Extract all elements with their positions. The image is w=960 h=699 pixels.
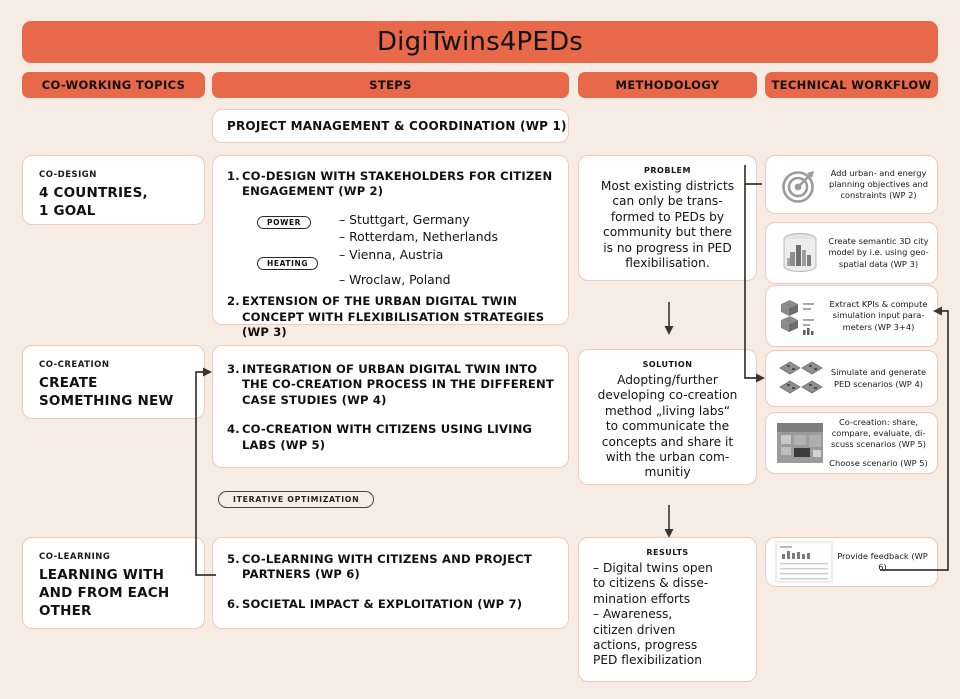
methodology-body-solution: Adopting/further developing co-creation … (589, 373, 746, 481)
workflow-text-5-main: Co-creation: share, compare, evaluate, d… (831, 417, 926, 449)
column-header-steps: STEPS (212, 72, 569, 98)
report-chart-icon (773, 541, 835, 583)
city-item: – Vienna, Austria (339, 246, 498, 264)
topic-headline-co-creation: CREATE SOMETHING NEW (39, 375, 188, 411)
methodology-card-problem: PROBLEM Most existing districts can only… (578, 155, 757, 281)
workflow-card-4: Simulate and generate PED scenarios (WP … (765, 350, 938, 407)
step-text-6: SOCIETAL IMPACT & EXPLOITATION (WP 7) (242, 597, 554, 612)
methodology-label-results: RESULTS (589, 548, 746, 557)
step-item-3: 3. INTEGRATION OF URBAN DIGITAL TWIN INT… (227, 362, 554, 408)
workflow-text-1: Add urban- and energy planning objective… (827, 168, 930, 202)
methodology-body-results: – Digital twins open to citizens & disse… (589, 561, 746, 669)
case-study-cities: POWER HEATING – Stuttgart, Germany – Rot… (227, 209, 554, 294)
kpi-blocks-icon (773, 292, 827, 340)
topic-card-co-creation: CO-CREATION CREATE SOMETHING NEW (22, 345, 205, 419)
pill-power: POWER (257, 216, 311, 229)
topic-headline-co-design: 4 COUNTRIES, 1 GOAL (39, 185, 188, 221)
workflow-text-6: Provide feedback (WP 6) (835, 551, 930, 573)
workflow-card-1: Add urban- and energy planning objective… (765, 155, 938, 214)
city-item: – Wroclaw, Poland (339, 271, 498, 289)
step-item-4: 4. CO-CREATION WITH CITIZENS USING LIVIN… (227, 422, 554, 453)
methodology-label-problem: PROBLEM (589, 166, 746, 175)
workflow-text-5-sub: Choose scenario (WP 5) (827, 458, 930, 469)
column-header-technical-workflow: TECHNICAL WORKFLOW (765, 72, 938, 98)
step-label-wp1: PROJECT MANAGEMENT & COORDINATION (WP 1) (213, 110, 568, 133)
column-header-co-working-topics: CO-WORKING TOPICS (22, 72, 205, 98)
workflow-card-6: Provide feedback (WP 6) (765, 537, 938, 587)
column-header-methodology: METHODOLOGY (578, 72, 757, 98)
target-icon (773, 165, 827, 205)
step-item-1: 1. CO-DESIGN WITH STAKEHOLDERS FOR CITIZ… (227, 169, 554, 200)
city-item: – Stuttgart, Germany (339, 211, 498, 229)
topic-eyebrow-co-learning: CO-LEARNING (39, 552, 188, 562)
city-item: – Rotterdam, Netherlands (339, 228, 498, 246)
step-number-2: 2. (227, 294, 242, 340)
methodology-card-results: RESULTS – Digital twins open to citizens… (578, 537, 757, 682)
workflow-text-2: Create semantic 3D city model by i.e. us… (827, 236, 930, 270)
topic-card-co-design: CO-DESIGN 4 COUNTRIES, 1 GOAL (22, 155, 205, 225)
step-card-group-c: 5. CO-LEARNING WITH CITIZENS AND PROJECT… (212, 537, 569, 629)
poster-canvas: DigiTwins4PEDs CO-WORKING TOPICS STEPS M… (0, 0, 960, 699)
step-number-6: 6. (227, 597, 242, 612)
step-number-5: 5. (227, 552, 242, 583)
step-item-5: 5. CO-LEARNING WITH CITIZENS AND PROJECT… (227, 552, 554, 583)
methodology-card-solution: SOLUTION Adopting/further developing co-… (578, 349, 757, 485)
arrow-problem-to-solution-icon (663, 302, 675, 336)
step-text-4: CO-CREATION WITH CITIZENS USING LIVING L… (242, 422, 554, 453)
database-city-icon (773, 228, 827, 278)
workflow-text-5: Co-creation: share, compare, evaluate, d… (827, 405, 930, 480)
step-card-project-management: PROJECT MANAGEMENT & COORDINATION (WP 1) (212, 109, 569, 143)
step-text-1: CO-DESIGN WITH STAKEHOLDERS FOR CITIZEN … (242, 169, 554, 200)
workflow-card-3: Extract KPIs & compute simulation input … (765, 285, 938, 347)
workflow-card-5: Co-creation: share, compare, evaluate, d… (765, 412, 938, 474)
aerial-map-icon (773, 419, 827, 467)
step-number-3: 3. (227, 362, 242, 408)
topic-eyebrow-co-design: CO-DESIGN (39, 170, 188, 180)
city-list: – Stuttgart, Germany – Rotterdam, Nether… (339, 211, 498, 288)
step-item-2: 2. EXTENSION OF THE URBAN DIGITAL TWIN C… (227, 294, 554, 340)
step-text-2: EXTENSION OF THE URBAN DIGITAL TWIN CONC… (242, 294, 554, 340)
scenario-tiles-icon (773, 357, 827, 401)
topic-card-co-learning: CO-LEARNING LEARNING WITH AND FROM EACH … (22, 537, 205, 629)
iterative-optimization-badge: ITERATIVE OPTIMIZATION (218, 491, 374, 508)
step-number-1: 1. (227, 169, 242, 200)
energy-type-pills: POWER HEATING (257, 211, 339, 288)
step-text-5: CO-LEARNING WITH CITIZENS AND PROJECT PA… (242, 552, 554, 583)
step-card-group-a: 1. CO-DESIGN WITH STAKEHOLDERS FOR CITIZ… (212, 155, 569, 325)
step-number-4: 4. (227, 422, 242, 453)
step-text-3: INTEGRATION OF URBAN DIGITAL TWIN INTO T… (242, 362, 554, 408)
poster-title-bar: DigiTwins4PEDs (22, 21, 938, 63)
arrow-solution-to-results-icon (663, 505, 675, 539)
topic-headline-co-learning: LEARNING WITH AND FROM EACH OTHER (39, 567, 188, 620)
page-title: DigiTwins4PEDs (377, 27, 583, 57)
step-item-6: 6. SOCIETAL IMPACT & EXPLOITATION (WP 7) (227, 597, 554, 612)
workflow-card-2: Create semantic 3D city model by i.e. us… (765, 222, 938, 284)
methodology-body-problem: Most existing districts can only be tran… (589, 179, 746, 271)
arrowhead-workflow4 (756, 374, 765, 383)
pill-heating: HEATING (257, 257, 318, 270)
workflow-text-3: Extract KPIs & compute simulation input … (827, 299, 930, 333)
methodology-label-solution: SOLUTION (589, 360, 746, 369)
topic-eyebrow-co-creation: CO-CREATION (39, 360, 188, 370)
workflow-text-4: Simulate and generate PED scenarios (WP … (827, 367, 930, 389)
step-card-group-b: 3. INTEGRATION OF URBAN DIGITAL TWIN INT… (212, 345, 569, 468)
